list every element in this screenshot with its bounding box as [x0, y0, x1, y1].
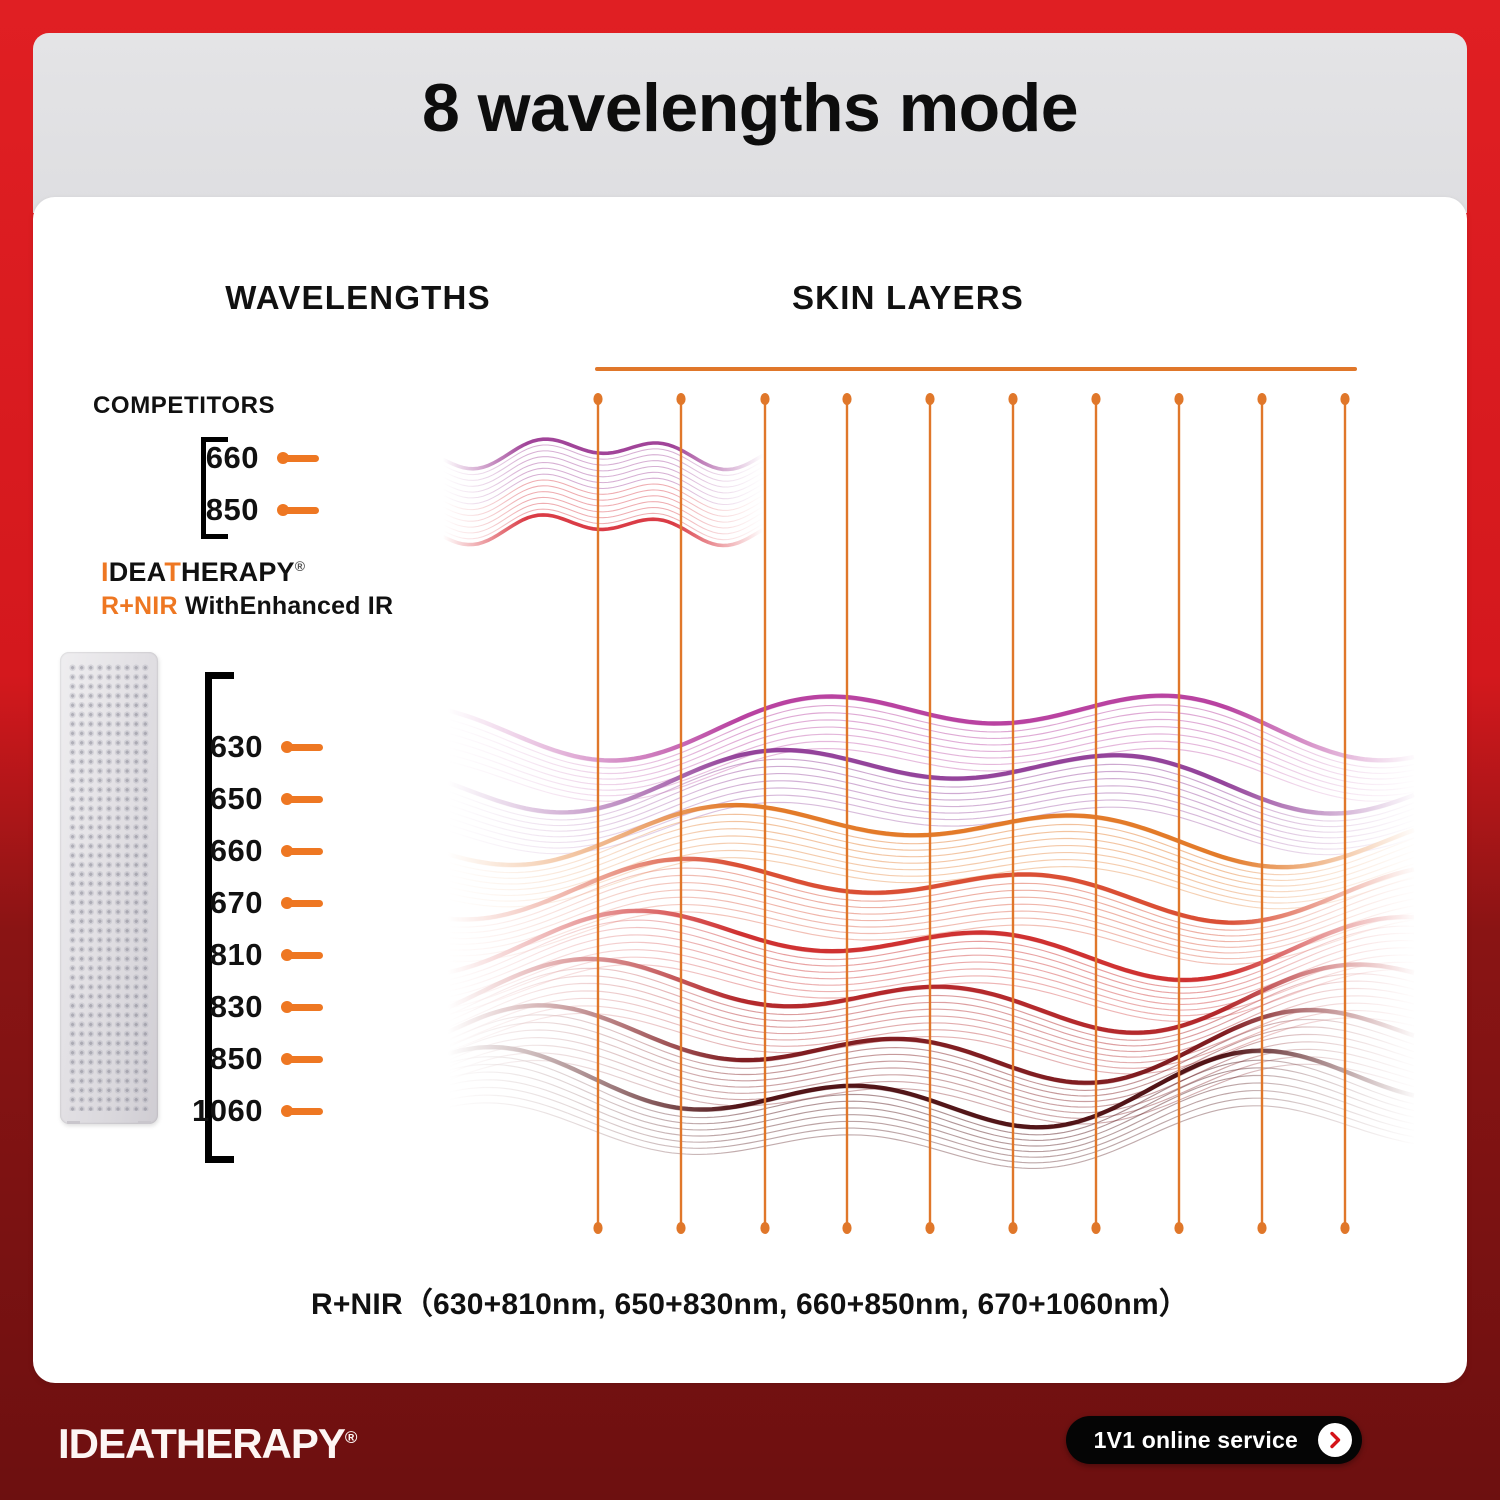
skin-penetration-chart	[33, 197, 1467, 1383]
page-title: 8 wavelengths mode	[33, 33, 1467, 183]
content-card: WAVELENGTHS SKIN LAYERS COMPETITORS 660 …	[33, 197, 1467, 1383]
footer-registered-mark: ®	[345, 1428, 357, 1447]
online-service-label: 1V1 online service	[1094, 1427, 1298, 1454]
header-band: 8 wavelengths mode	[33, 33, 1467, 213]
chevron-right-icon[interactable]	[1318, 1423, 1352, 1457]
footer-logo: IDEATHERAPY®	[58, 1420, 356, 1468]
footer-logo-text: IDEATHERAPY	[58, 1420, 345, 1467]
footer-bar: IDEATHERAPY® 1V1 online service	[0, 1390, 1500, 1500]
online-service-button[interactable]: 1V1 online service	[1066, 1416, 1362, 1464]
poster-frame: 8 wavelengths mode WAVELENGTHS SKIN LAYE…	[0, 0, 1500, 1500]
chart-caption: R+NIR（630+810nm, 650+830nm, 660+850nm, 6…	[33, 1279, 1467, 1323]
